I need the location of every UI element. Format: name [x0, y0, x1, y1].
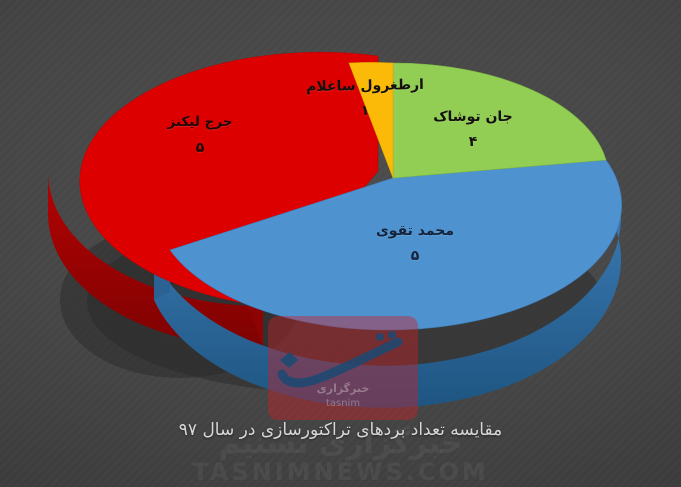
tasnim-logo-caption: خبرگزاری tasnim	[268, 382, 418, 410]
tasnim-logo-caption-en: tasnim	[326, 398, 360, 409]
slice-label-mohammad: محمد تقوی ۵	[345, 224, 485, 263]
slice-label-george: جرج لیکنز ۵	[140, 116, 260, 155]
tasnim-logo-watermark: خبرگزاری tasnim	[268, 316, 418, 420]
slice-name-george: جرج لیکنز	[140, 116, 260, 130]
slice-label-jan: جان توشاک ۴	[406, 110, 540, 149]
slice-value-jan: ۴	[406, 135, 540, 149]
slice-name-mohammad: محمد تقوی	[345, 224, 485, 238]
chart-title: مقایسه تعداد بردهای تراکتورسازی در سال ۹…	[0, 420, 681, 440]
tasnim-logo-caption-fa: خبرگزاری	[268, 382, 418, 397]
slice-name-jan: جان توشاک	[406, 110, 540, 124]
tasnim-swoosh-icon	[276, 330, 408, 388]
slice-value-george: ۵	[140, 141, 260, 155]
slice-name-ertugrul: ارطغرول ساغلام	[300, 78, 430, 94]
slice-value-mohammad: ۵	[345, 249, 485, 263]
chart-canvas: ارطغرول ساغلام ۱ جان توشاک ۴ محمد تقوی ۵…	[0, 0, 681, 487]
